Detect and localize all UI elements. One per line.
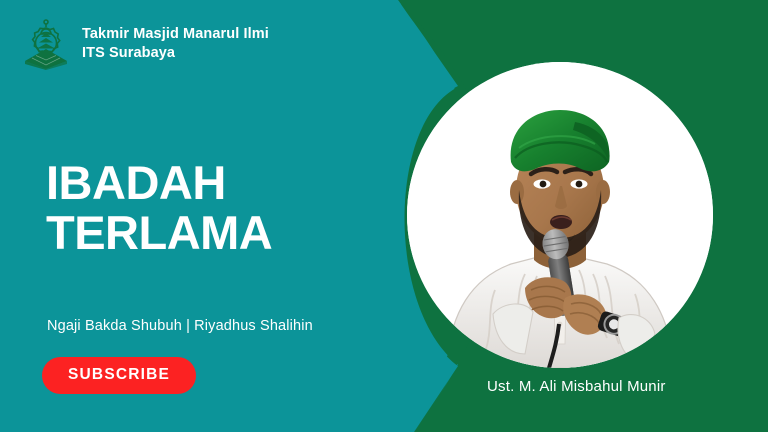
subtitle: Ngaji Bakda Shubuh | Riyadhus Shalihin: [47, 318, 313, 334]
speaker-name: Ust. M. Ali Misbahul Munir: [487, 378, 666, 395]
page-title: IBADAH TERLAMA: [46, 158, 272, 258]
subscribe-button[interactable]: SUBSCRIBE: [42, 357, 196, 394]
speaker-photo-circle: [407, 62, 713, 368]
brand-lockup: Takmir Masjid Manarul Ilmi ITS Surabaya: [22, 18, 269, 70]
thumbnail-canvas: Takmir Masjid Manarul Ilmi ITS Surabaya …: [0, 0, 768, 432]
speaker-portrait: [407, 62, 713, 368]
brand-name: Takmir Masjid Manarul Ilmi ITS Surabaya: [82, 25, 269, 62]
mosque-gear-logo-icon: [22, 18, 70, 70]
title-block: IBADAH TERLAMA: [46, 158, 272, 258]
